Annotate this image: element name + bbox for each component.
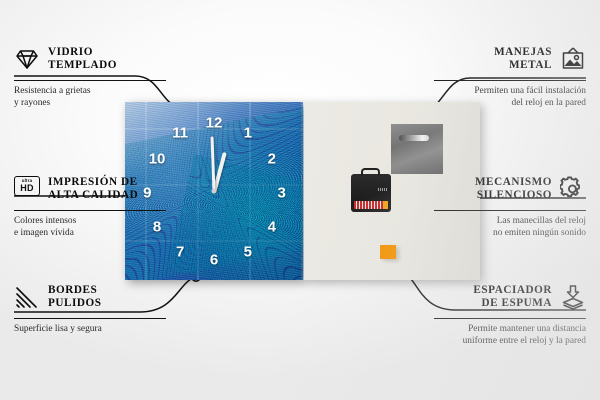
gear-icon — [560, 176, 586, 202]
feature-rule — [434, 80, 586, 81]
clock-numeral-12: 12 — [206, 115, 223, 132]
ultra-hd-icon: ultra HD — [14, 176, 40, 202]
feature-description: Permiten una fácil instalación del reloj… — [434, 86, 586, 109]
feature-rule — [14, 80, 166, 81]
clock-numeral-11: 11 — [172, 125, 188, 142]
feature-title: BORDES PULIDOS — [48, 284, 102, 310]
feature-bordes-pulidos: BORDES PULIDOS Superficie lisa y segura — [14, 278, 166, 336]
foam-spacer-icon — [560, 284, 586, 310]
clock-mechanism — [351, 174, 391, 212]
clock-numeral-2: 2 — [268, 150, 276, 167]
feature-description: Las manecillas del reloj no emiten ningú… — [434, 216, 586, 239]
feature-rule — [14, 210, 166, 211]
feature-title: ESPACIADOR DE ESPUMA — [473, 284, 552, 310]
clock-center-pin — [212, 189, 217, 194]
feature-description: Resistencia a grietas y rayones — [14, 86, 166, 109]
feature-title: MANEJAS METAL — [494, 46, 552, 72]
feature-manejas-metal: MANEJAS METAL Permiten una fácil instala… — [434, 40, 586, 109]
hanger-slot — [399, 135, 429, 141]
clock-numeral-7: 7 — [176, 243, 184, 260]
feature-impresion-alta-calidad: ultra HD IMPRESIÓN DE ALTA CALIDAD Color… — [14, 170, 166, 239]
ultra-hd-icon-label: HD — [20, 184, 34, 193]
feature-title: MECANISMO SILENCIOSO — [475, 176, 552, 202]
polished-edges-icon — [14, 284, 40, 310]
feature-description: Colores intensos e imagen vívida — [14, 216, 166, 239]
feature-title: VIDRIO TEMPLADO — [48, 46, 117, 72]
mechanism-markings — [378, 188, 388, 191]
feature-rule — [14, 318, 166, 319]
infographic-canvas: 12 1 2 3 4 5 6 7 8 9 10 11 — [0, 0, 600, 400]
diamond-icon — [14, 46, 40, 72]
clock-numeral-1: 1 — [244, 125, 252, 142]
clock-numeral-4: 4 — [268, 218, 276, 235]
product-photo: 12 1 2 3 4 5 6 7 8 9 10 11 — [125, 102, 480, 280]
foam-spacer-square — [380, 245, 396, 259]
feature-rule — [434, 210, 586, 211]
metal-hanger-plate — [391, 124, 443, 174]
clock-numeral-3: 3 — [277, 184, 285, 201]
clock-numeral-5: 5 — [244, 243, 252, 260]
feature-title: IMPRESIÓN DE ALTA CALIDAD — [48, 176, 138, 202]
clock-numeral-10: 10 — [149, 150, 166, 167]
feature-espaciador-espuma: ESPACIADOR DE ESPUMA Permite mantener un… — [434, 278, 586, 347]
hanging-frame-icon — [560, 46, 586, 72]
mechanism-loop — [361, 168, 380, 176]
feature-description: Superficie lisa y segura — [14, 324, 166, 335]
feature-mecanismo-silencioso: MECANISMO SILENCIOSO Las manecillas del … — [434, 170, 586, 239]
feature-description: Permite mantener una distancia uniforme … — [434, 324, 586, 347]
mechanism-label-accent — [383, 201, 388, 209]
feature-vidrio-templado: VIDRIO TEMPLADO Resistencia a grietas y … — [14, 40, 166, 109]
mechanism-red-label — [354, 201, 388, 209]
feature-rule — [434, 318, 586, 319]
clock-numeral-6: 6 — [210, 252, 218, 269]
